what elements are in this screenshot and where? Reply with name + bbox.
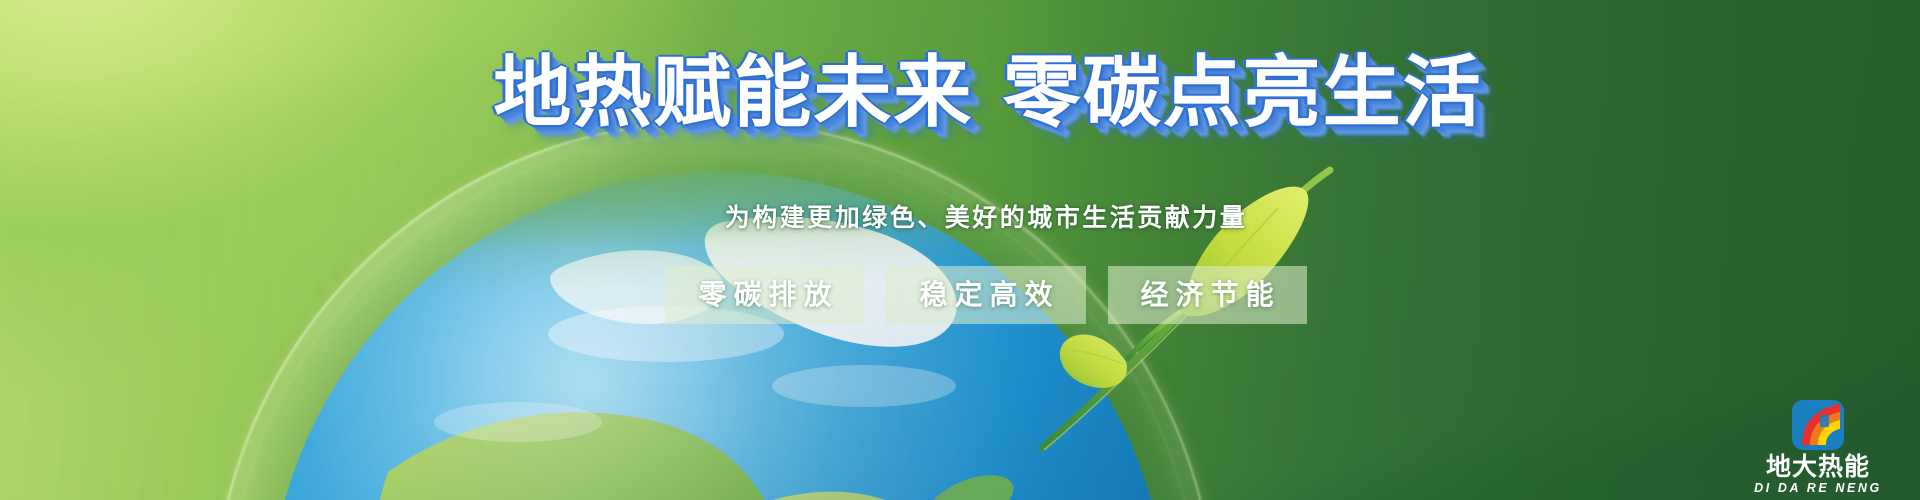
didareneng-logo-mark-icon	[1790, 399, 1846, 451]
feature-badge-zero-carbon[interactable]: 零碳排放	[665, 266, 864, 324]
company-logo[interactable]: 地大热能 DI DA RE NENG	[1738, 390, 1898, 494]
page-title: 地热赋能未来 零碳点亮生活	[0, 52, 1920, 135]
feature-badge-stable-efficient[interactable]: 稳定高效	[886, 266, 1085, 324]
page-subtitle: 为构建更加绿色、美好的城市生活贡献力量	[0, 198, 1920, 234]
feature-badge-economical[interactable]: 经济节能	[1108, 266, 1307, 324]
logo-pinyin: DI DA RE NENG	[1754, 482, 1882, 495]
feature-badge-group: 零碳排放 稳定高效 经济节能	[0, 266, 1920, 324]
logo-chinese-name: 地大热能	[1766, 454, 1870, 479]
promo-banner: 地热赋能未来 零碳点亮生活 为构建更加绿色、美好的城市生活贡献力量 零碳排放 稳…	[0, 0, 1920, 500]
